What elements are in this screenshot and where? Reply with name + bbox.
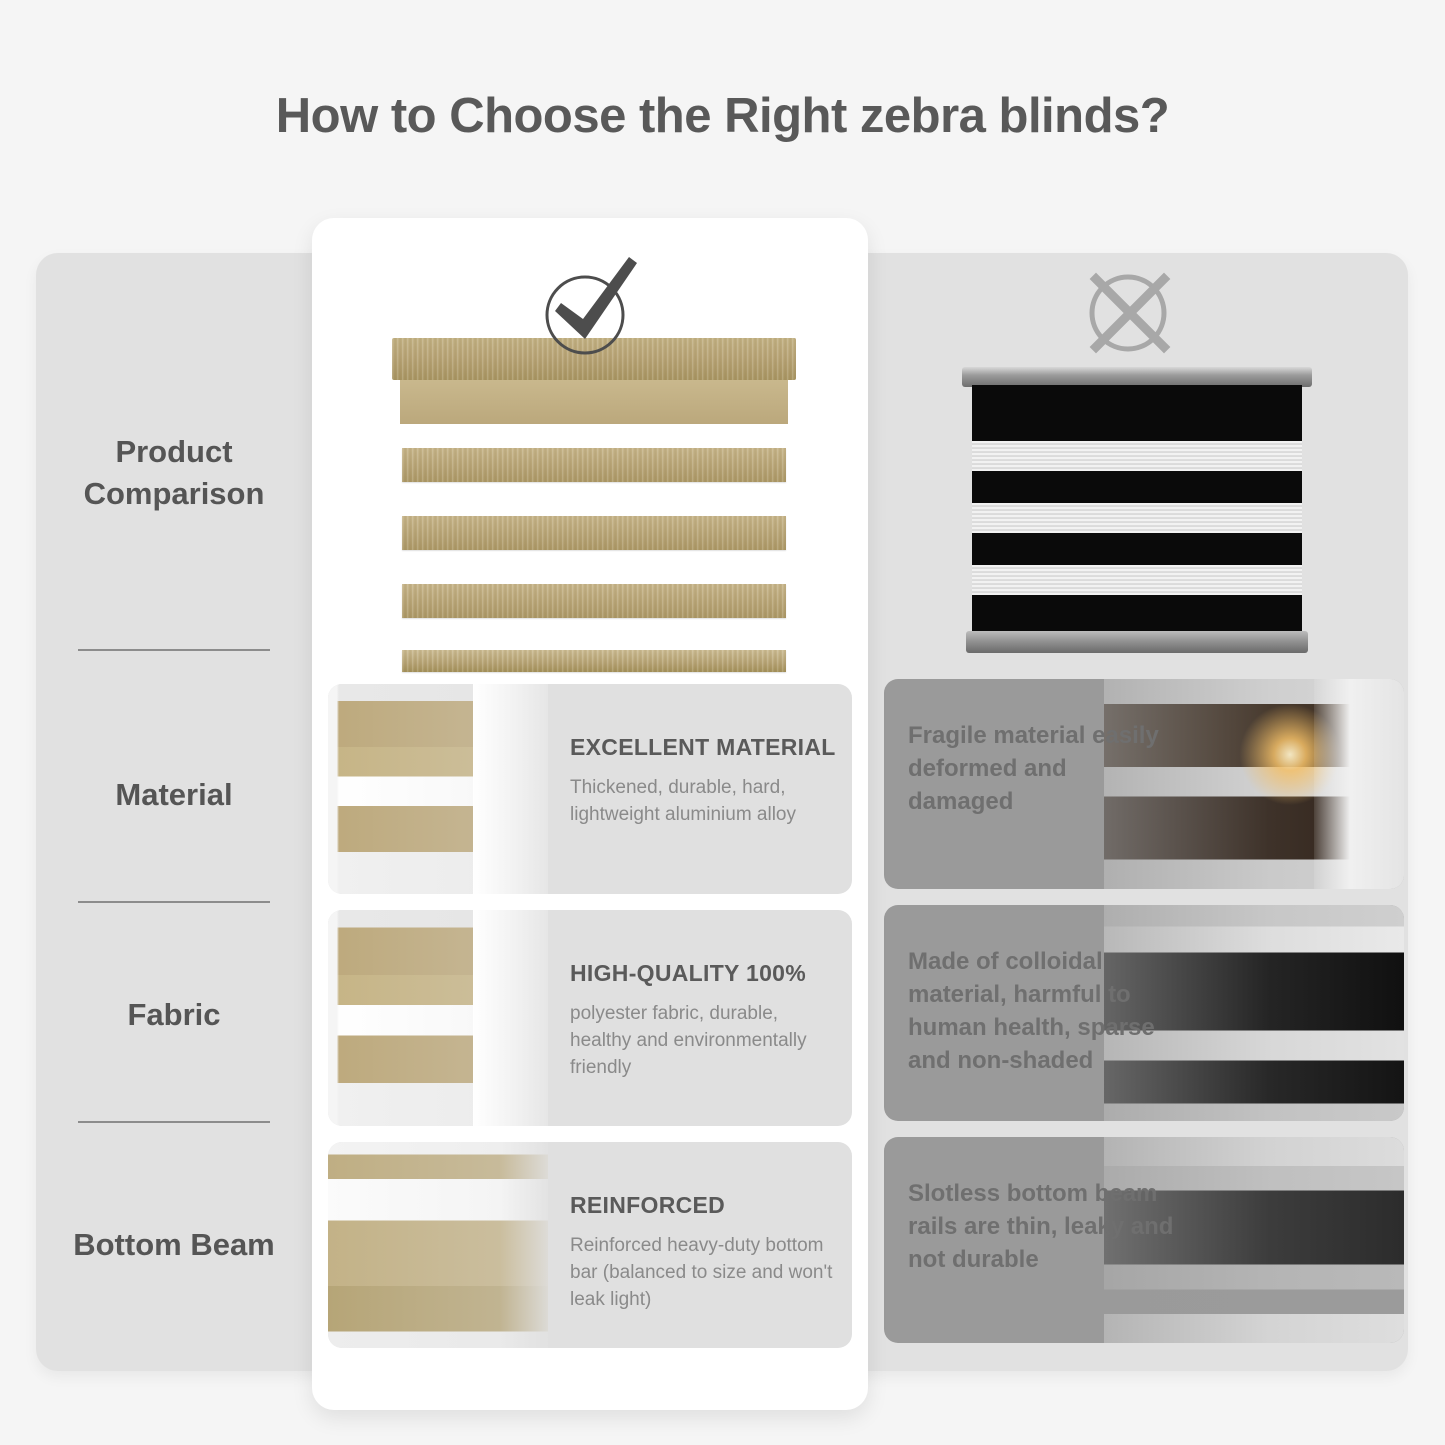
row-label-bottom-beam: Bottom Beam — [36, 1145, 312, 1345]
bad-product-column: Fragile material easily deformed and dam… — [876, 253, 1408, 1371]
comparison-infographic: How to Choose the Right zebra blinds? Pr… — [0, 0, 1445, 1445]
row-divider — [78, 1121, 270, 1123]
good-hero-product-image — [392, 338, 796, 668]
tan-bottom-beam-photo — [328, 1142, 548, 1348]
good-card-heading: HIGH-QUALITY 100% — [570, 960, 836, 987]
sheer-band — [972, 565, 1302, 595]
row-label-column: Product Comparison Material Fabric Botto… — [36, 253, 312, 1371]
good-card-heading: REINFORCED — [570, 1192, 836, 1219]
blind-slat — [402, 516, 786, 550]
row-label-text: Material — [115, 774, 232, 816]
row-divider — [78, 649, 270, 651]
row-label-text: Fabric — [127, 994, 220, 1036]
bad-hero-product-image — [962, 363, 1312, 653]
good-card-material: EXCELLENT MATERIAL Thickened, durable, h… — [328, 684, 852, 894]
bad-card-text: Slotless bottom beam rails are thin, lea… — [908, 1177, 1178, 1276]
blind-slat — [402, 448, 786, 482]
bad-bottom-rail — [966, 631, 1308, 653]
tan-blind-closeup-photo — [328, 684, 548, 894]
bad-card-fabric: Made of colloidal material, harmful to h… — [884, 905, 1404, 1121]
good-card-heading: EXCELLENT MATERIAL — [570, 734, 836, 761]
bad-card-material: Fragile material easily deformed and dam… — [884, 679, 1404, 889]
tan-blind-fabric-photo — [328, 910, 548, 1126]
blind-slat — [402, 584, 786, 618]
sheer-band — [972, 503, 1302, 533]
good-card-body: polyester fabric, durable, healthy and e… — [570, 1001, 836, 1082]
row-label-text: Bottom Beam — [73, 1224, 275, 1266]
row-label-product-comparison: Product Comparison — [36, 373, 312, 573]
check-circle-icon — [533, 253, 653, 358]
row-label-material: Material — [36, 705, 312, 885]
cross-circle-icon — [1078, 265, 1178, 361]
good-card-body: Reinforced heavy-duty bottom bar (balanc… — [570, 1233, 836, 1314]
bad-headrail — [962, 367, 1312, 387]
good-bottom-bar — [402, 650, 786, 672]
good-card-body: Thickened, durable, hard, lightweight al… — [570, 775, 836, 829]
bad-card-bottom-beam: Slotless bottom beam rails are thin, lea… — [884, 1137, 1404, 1343]
good-card-fabric: HIGH-QUALITY 100% polyester fabric, dura… — [328, 910, 852, 1126]
bad-card-text: Fragile material easily deformed and dam… — [908, 719, 1178, 818]
page-title: How to Choose the Right zebra blinds? — [0, 88, 1445, 144]
good-product-column: EXCELLENT MATERIAL Thickened, durable, h… — [312, 218, 868, 1410]
bad-fabric — [972, 385, 1302, 631]
good-card-bottom-beam: REINFORCED Reinforced heavy-duty bottom … — [328, 1142, 852, 1348]
bad-card-text: Made of colloidal material, harmful to h… — [908, 945, 1178, 1077]
row-label-text: Product Comparison — [36, 431, 312, 515]
row-label-fabric: Fabric — [36, 925, 312, 1105]
row-divider — [78, 901, 270, 903]
sheer-band — [972, 441, 1302, 471]
